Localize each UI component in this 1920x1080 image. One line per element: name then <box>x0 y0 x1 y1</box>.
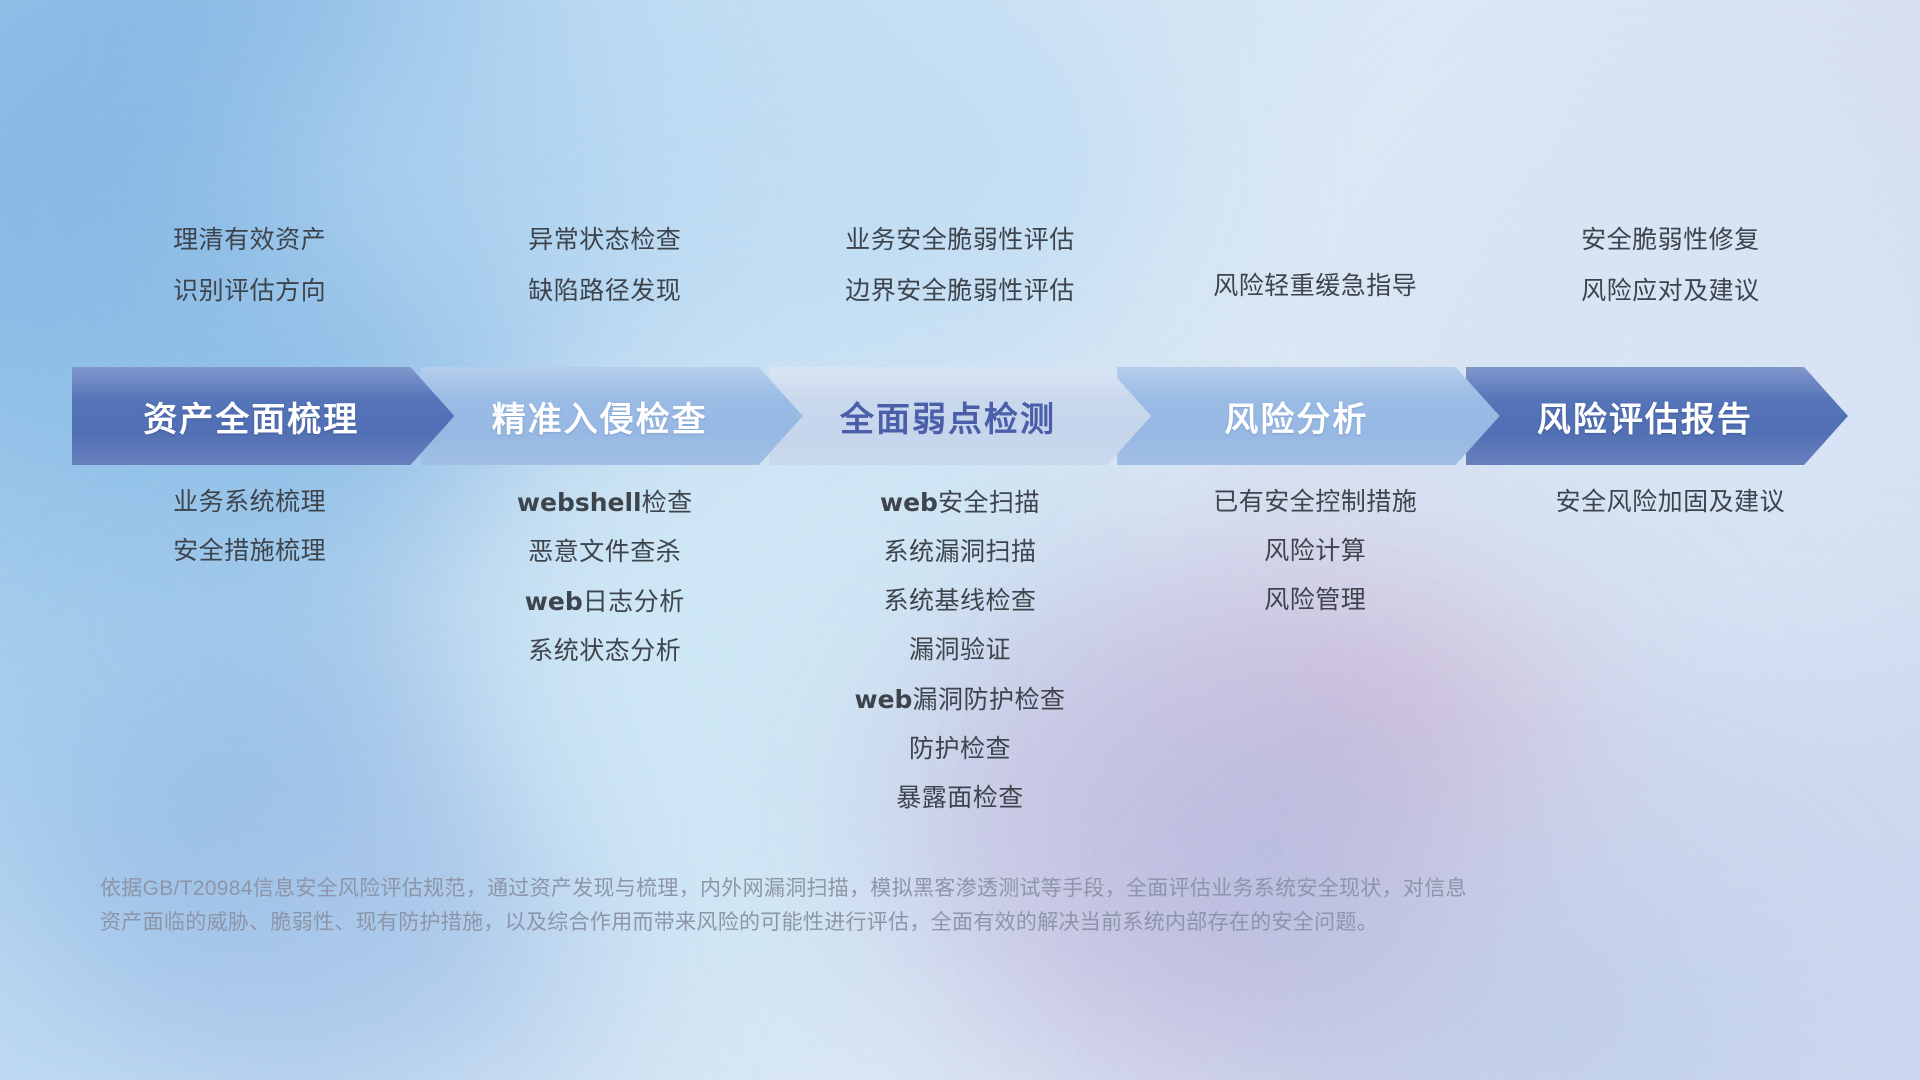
stage-activities-weakness-detection: web安全扫描系统漏洞扫描系统基线检查漏洞验证web漏洞防护检查防护检查暴露面检… <box>782 490 1137 835</box>
stage-activity-item: webshell检查 <box>517 490 693 516</box>
footer-line-1: 依据GB/T20984信息安全风险评估规范，通过资产发现与梳理，内外网漏洞扫描，… <box>100 872 1620 906</box>
stage-activity-item: 已有安全控制措施 <box>1213 490 1417 515</box>
stage-activities-risk-report: 安全风险加固及建议 <box>1493 490 1848 835</box>
process-diagram: 理清有效资产识别评估方向异常状态检查缺陷路径发现业务安全脆弱性评估边界安全脆弱性… <box>0 0 1920 1080</box>
stage-outcome-label: 缺陷路径发现 <box>528 279 681 304</box>
latin-token: webshell <box>517 488 642 517</box>
process-arrow-band: 资产全面梳理精准入侵检查全面弱点检测风险分析风险评估报告 <box>72 367 1848 465</box>
stage-activity-item: 恶意文件查杀 <box>528 540 681 565</box>
stage-outcomes-risk-report: 安全脆弱性修复风险应对及建议 <box>1493 228 1848 348</box>
stage-activities-asset-inventory: 业务系统梳理安全措施梳理 <box>72 490 427 835</box>
stage-activity-item: 系统基线检查 <box>883 589 1036 614</box>
stage-outcome-label: 理清有效资产 <box>173 228 326 253</box>
process-arrow-label: 全面弱点检测 <box>840 392 1056 441</box>
latin-token: web <box>855 685 913 714</box>
process-arrow-risk-analysis[interactable]: 风险分析 <box>1117 367 1499 465</box>
stage-outcome-label: 安全脆弱性修复 <box>1581 228 1760 253</box>
stage-activity-item: 风险管理 <box>1264 588 1366 613</box>
stage-outcome-label: 异常状态检查 <box>528 228 681 253</box>
stage-activity-item: 风险计算 <box>1264 539 1366 564</box>
stage-activity-item: 系统状态分析 <box>528 639 681 664</box>
stage-outcomes-row: 理清有效资产识别评估方向异常状态检查缺陷路径发现业务安全脆弱性评估边界安全脆弱性… <box>72 228 1848 348</box>
process-arrow-label: 风险评估报告 <box>1537 392 1753 441</box>
stage-outcome-label: 风险轻重缓急指导 <box>1213 274 1417 299</box>
stage-activity-item: 安全措施梳理 <box>173 539 326 564</box>
stage-activities-row: 业务系统梳理安全措施梳理webshell检查恶意文件查杀web日志分析系统状态分… <box>72 490 1848 810</box>
stage-activity-item: 系统漏洞扫描 <box>883 540 1036 565</box>
stage-outcome-label: 识别评估方向 <box>173 279 326 304</box>
stage-outcome-label: 边界安全脆弱性评估 <box>845 279 1075 304</box>
process-arrow-asset-inventory[interactable]: 资产全面梳理 <box>72 367 454 465</box>
stage-activity-item: 业务系统梳理 <box>173 490 326 515</box>
stage-outcomes-intrusion-check: 异常状态检查缺陷路径发现 <box>427 228 782 348</box>
stage-activity-item: 漏洞验证 <box>909 638 1011 663</box>
stage-activity-item: 暴露面检查 <box>896 786 1024 811</box>
stage-outcome-label: 业务安全脆弱性评估 <box>845 228 1075 253</box>
latin-token: web <box>880 488 938 517</box>
stage-outcomes-weakness-detection: 业务安全脆弱性评估边界安全脆弱性评估 <box>782 228 1137 348</box>
stage-activity-item: web安全扫描 <box>880 490 1040 516</box>
stage-activity-item: web漏洞防护检查 <box>855 687 1066 713</box>
latin-token: web <box>525 587 583 616</box>
stage-outcomes-risk-analysis: 风险轻重缓急指导 <box>1138 228 1493 348</box>
stage-activity-item: web日志分析 <box>525 589 685 615</box>
process-arrow-weakness-detection[interactable]: 全面弱点检测 <box>769 367 1151 465</box>
process-arrow-label: 精准入侵检查 <box>492 392 708 441</box>
stage-outcome-label: 风险应对及建议 <box>1581 279 1760 304</box>
process-arrow-label: 风险分析 <box>1224 392 1368 441</box>
stage-activity-item: 安全风险加固及建议 <box>1556 490 1786 515</box>
stage-activities-risk-analysis: 已有安全控制措施风险计算风险管理 <box>1138 490 1493 835</box>
process-arrow-risk-report[interactable]: 风险评估报告 <box>1466 367 1848 465</box>
process-arrow-intrusion-check[interactable]: 精准入侵检查 <box>420 367 802 465</box>
footer-description: 依据GB/T20984信息安全风险评估规范，通过资产发现与梳理，内外网漏洞扫描，… <box>100 872 1620 940</box>
stage-outcomes-asset-inventory: 理清有效资产识别评估方向 <box>72 228 427 348</box>
stage-activity-item: 防护检查 <box>909 737 1011 762</box>
process-arrow-label: 资产全面梳理 <box>143 392 359 441</box>
stage-activities-intrusion-check: webshell检查恶意文件查杀web日志分析系统状态分析 <box>427 490 782 835</box>
footer-line-2: 资产面临的威胁、脆弱性、现有防护措施，以及综合作用而带来风险的可能性进行评估，全… <box>100 906 1620 940</box>
